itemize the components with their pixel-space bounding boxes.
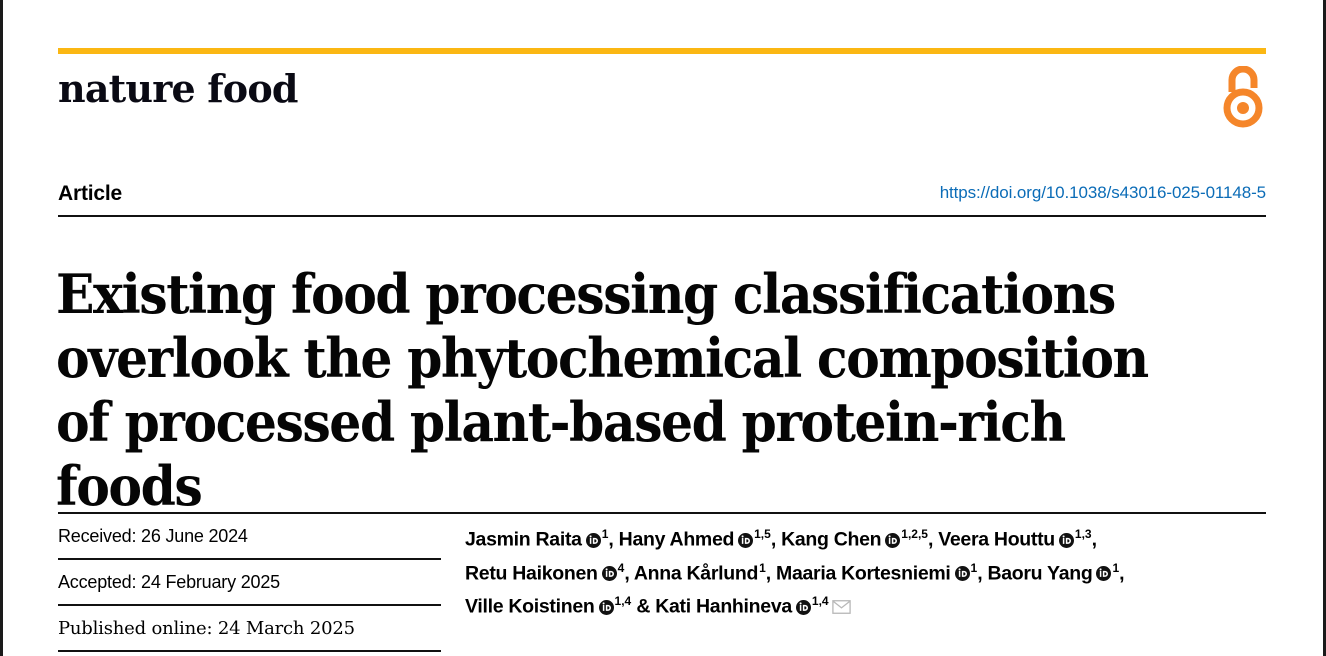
author-separator: , <box>1092 529 1097 551</box>
journal-logo[interactable]: nature food <box>58 60 1266 118</box>
orcid-id-icon[interactable] <box>1096 561 1111 576</box>
author-separator: , <box>608 529 618 551</box>
orcid-id-icon[interactable] <box>796 595 811 610</box>
article-meta-row: Article https://doi.org/10.1038/s43016-0… <box>58 180 1266 212</box>
author-name[interactable]: Jasmin Raita <box>465 529 582 551</box>
orcid-id-icon[interactable] <box>586 528 601 543</box>
doi-link[interactable]: https://doi.org/10.1038/s43016-025-01148… <box>940 183 1266 203</box>
masthead-accent-rule <box>58 48 1266 54</box>
author-name[interactable]: Kati Hanhineva <box>655 596 792 618</box>
author-separator: , <box>624 562 634 584</box>
header-divider <box>58 215 1266 217</box>
date-received: Received: 26 June 2024 <box>58 514 441 560</box>
author-name[interactable]: Veera Houttu <box>938 529 1055 551</box>
date-published-online: Published online: 24 March 2025 <box>58 606 441 652</box>
author-separator: , <box>771 529 781 551</box>
orcid-id-icon[interactable] <box>738 528 753 543</box>
author-line: Retu Haikonen4, Anna Kårlund1, Maaria Ko… <box>465 554 1266 588</box>
author-affiliation-marker: 1 <box>759 561 766 575</box>
author-separator: & <box>631 596 655 618</box>
author-separator: , <box>928 529 938 551</box>
author-name[interactable]: Baoru Yang <box>987 562 1092 584</box>
author-affiliation-marker: 1,4 <box>812 594 829 608</box>
author-name[interactable]: Retu Haikonen <box>465 562 598 584</box>
envelope-icon[interactable] <box>832 594 851 608</box>
orcid-id-icon[interactable] <box>885 528 900 543</box>
orcid-id-icon[interactable] <box>955 561 970 576</box>
orcid-id-icon[interactable] <box>602 561 617 576</box>
author-list: Jasmin Raita1, Hany Ahmed1,5, Kang Chen1… <box>465 520 1266 621</box>
author-separator: , <box>977 562 987 584</box>
orcid-id-icon[interactable] <box>1059 528 1074 543</box>
author-affiliation-marker: 1,4 <box>615 594 632 608</box>
open-access-lock-icon[interactable] <box>1220 66 1266 128</box>
author-separator: , <box>766 562 776 584</box>
page-title: Existing food processing classifications… <box>56 262 1185 518</box>
article-page: nature food Article https://doi.org/10.1… <box>0 0 1326 656</box>
author-affiliation-marker: 1,5 <box>754 527 771 541</box>
author-name[interactable]: Kang Chen <box>781 529 881 551</box>
masthead: nature food <box>58 60 1266 130</box>
author-separator: , <box>1119 562 1124 584</box>
author-line: Jasmin Raita1, Hany Ahmed1,5, Kang Chen1… <box>465 520 1266 554</box>
author-name[interactable]: Anna Kårlund <box>634 562 758 584</box>
author-name[interactable]: Ville Koistinen <box>465 596 595 618</box>
author-affiliation-marker: 1,2,5 <box>901 527 928 541</box>
author-affiliation-marker: 1,3 <box>1075 527 1092 541</box>
author-name[interactable]: Maaria Kortesniemi <box>776 562 951 584</box>
author-name[interactable]: Hany Ahmed <box>619 529 734 551</box>
author-line: Ville Koistinen1,4 & Kati Hanhineva1,4 <box>465 587 1266 621</box>
publication-dates: Received: 26 June 2024 Accepted: 24 Febr… <box>58 514 441 652</box>
date-accepted: Accepted: 24 February 2025 <box>58 560 441 606</box>
orcid-id-icon[interactable] <box>599 595 614 610</box>
